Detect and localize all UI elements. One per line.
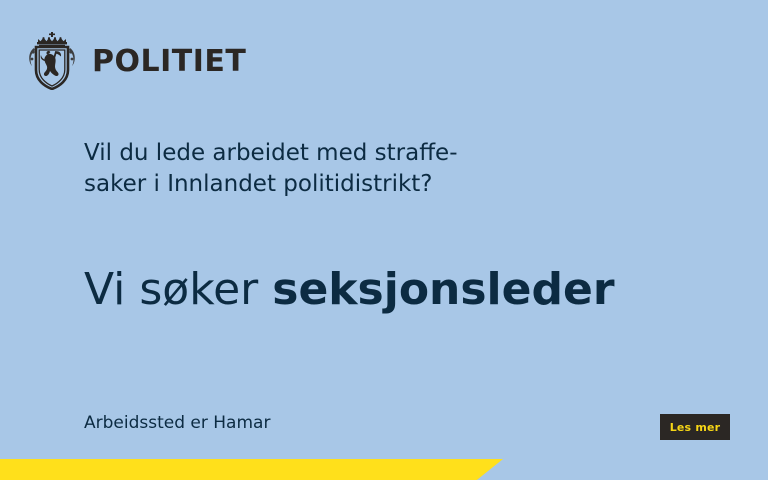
read-more-button-label: Les mer [670, 421, 721, 434]
politiet-wordmark: POLITIET [92, 47, 246, 77]
workplace-location: Arbeidssted er Hamar [84, 413, 270, 433]
headline-light-part: Vi søker [84, 264, 272, 315]
read-more-button[interactable]: Les mer [660, 414, 730, 440]
norwegian-coat-of-arms-icon [26, 32, 78, 90]
recruitment-poster: POLITIET Vil du lede arbeidet med straff… [0, 0, 768, 480]
brand-header: POLITIET [26, 32, 246, 90]
yellow-accent-band [0, 459, 503, 480]
headline-strong-part: seksjonsleder [272, 264, 614, 315]
page-title: Vi søker seksjonsleder [84, 265, 615, 315]
kicker-text: Vil du lede arbeidet med straffe- saker … [84, 138, 644, 200]
